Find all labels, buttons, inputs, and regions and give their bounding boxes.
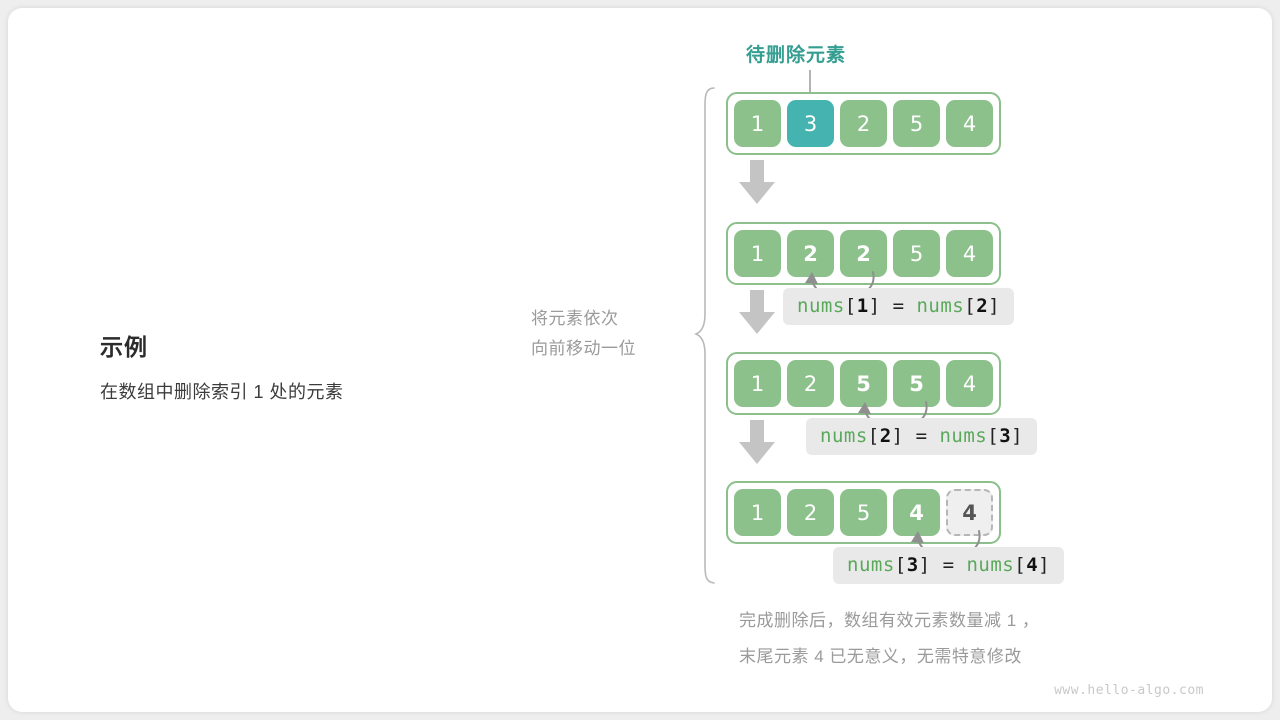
array-cell: 5 <box>840 489 887 536</box>
array-cell: 2 <box>787 489 834 536</box>
array-cell: 2 <box>840 100 887 147</box>
down-arrow-icon <box>737 420 777 466</box>
code-fn: nums <box>939 425 987 447</box>
result-note-line1: 完成删除后，数组有效元素数量减 1 ， <box>739 603 1039 639</box>
array-cell: 1 <box>734 489 781 536</box>
result-note-line2: 末尾元素 4 已无意义，无需特意修改 <box>739 639 1039 675</box>
code-fn: nums <box>847 554 895 576</box>
code-index: 2 <box>880 425 892 447</box>
array-cell-target: 3 <box>787 100 834 147</box>
code-operator: = <box>916 425 928 447</box>
code-index: 3 <box>999 425 1011 447</box>
down-arrow-icon <box>737 160 777 206</box>
code-fn: nums <box>916 295 964 317</box>
code-label-step-3: nums[3] = nums[4] <box>833 547 1064 584</box>
array-cell: 1 <box>734 100 781 147</box>
shift-note: 将元素依次 向前移动一位 <box>531 304 681 364</box>
array-cell: 5 <box>893 100 940 147</box>
down-arrow-icon <box>737 290 777 336</box>
watermark: www.hello-algo.com <box>1054 683 1204 698</box>
diagram-card: 示例 在数组中删除索引 1 处的元素 将元素依次 向前移动一位 待删除元素 1 … <box>8 8 1272 712</box>
shift-note-line1: 将元素依次 <box>531 304 681 334</box>
array-cell: 4 <box>946 100 993 147</box>
steps-brace <box>694 86 718 591</box>
code-fn: nums <box>797 295 845 317</box>
array-cell: 1 <box>734 360 781 407</box>
code-index: 1 <box>857 295 869 317</box>
delete-target-label: 待删除元素 <box>746 40 846 67</box>
diagram-canvas: 示例 在数组中删除索引 1 处的元素 将元素依次 向前移动一位 待删除元素 1 … <box>0 0 1280 720</box>
code-fn: nums <box>966 554 1014 576</box>
code-label-step-1: nums[1] = nums[2] <box>783 288 1014 325</box>
array-cell: 5 <box>893 230 940 277</box>
example-description: 示例 在数组中删除索引 1 处的元素 <box>100 328 480 404</box>
example-subtitle: 在数组中删除索引 1 处的元素 <box>100 378 480 404</box>
array-cell: 4 <box>946 230 993 277</box>
code-index: 2 <box>976 295 988 317</box>
array-cell: 2 <box>787 360 834 407</box>
code-label-step-2: nums[2] = nums[3] <box>806 418 1037 455</box>
example-title: 示例 <box>100 328 480 362</box>
shift-note-line2: 向前移动一位 <box>531 334 681 364</box>
array-cell: 1 <box>734 230 781 277</box>
code-index: 4 <box>1026 554 1038 576</box>
array-cell: 4 <box>946 360 993 407</box>
result-note: 完成删除后，数组有效元素数量减 1 ， 末尾元素 4 已无意义，无需特意修改 <box>739 603 1039 675</box>
array-row-step-0: 1 3 2 5 4 <box>726 92 1001 155</box>
code-operator: = <box>893 295 905 317</box>
code-operator: = <box>943 554 955 576</box>
code-fn: nums <box>820 425 868 447</box>
code-index: 3 <box>907 554 919 576</box>
